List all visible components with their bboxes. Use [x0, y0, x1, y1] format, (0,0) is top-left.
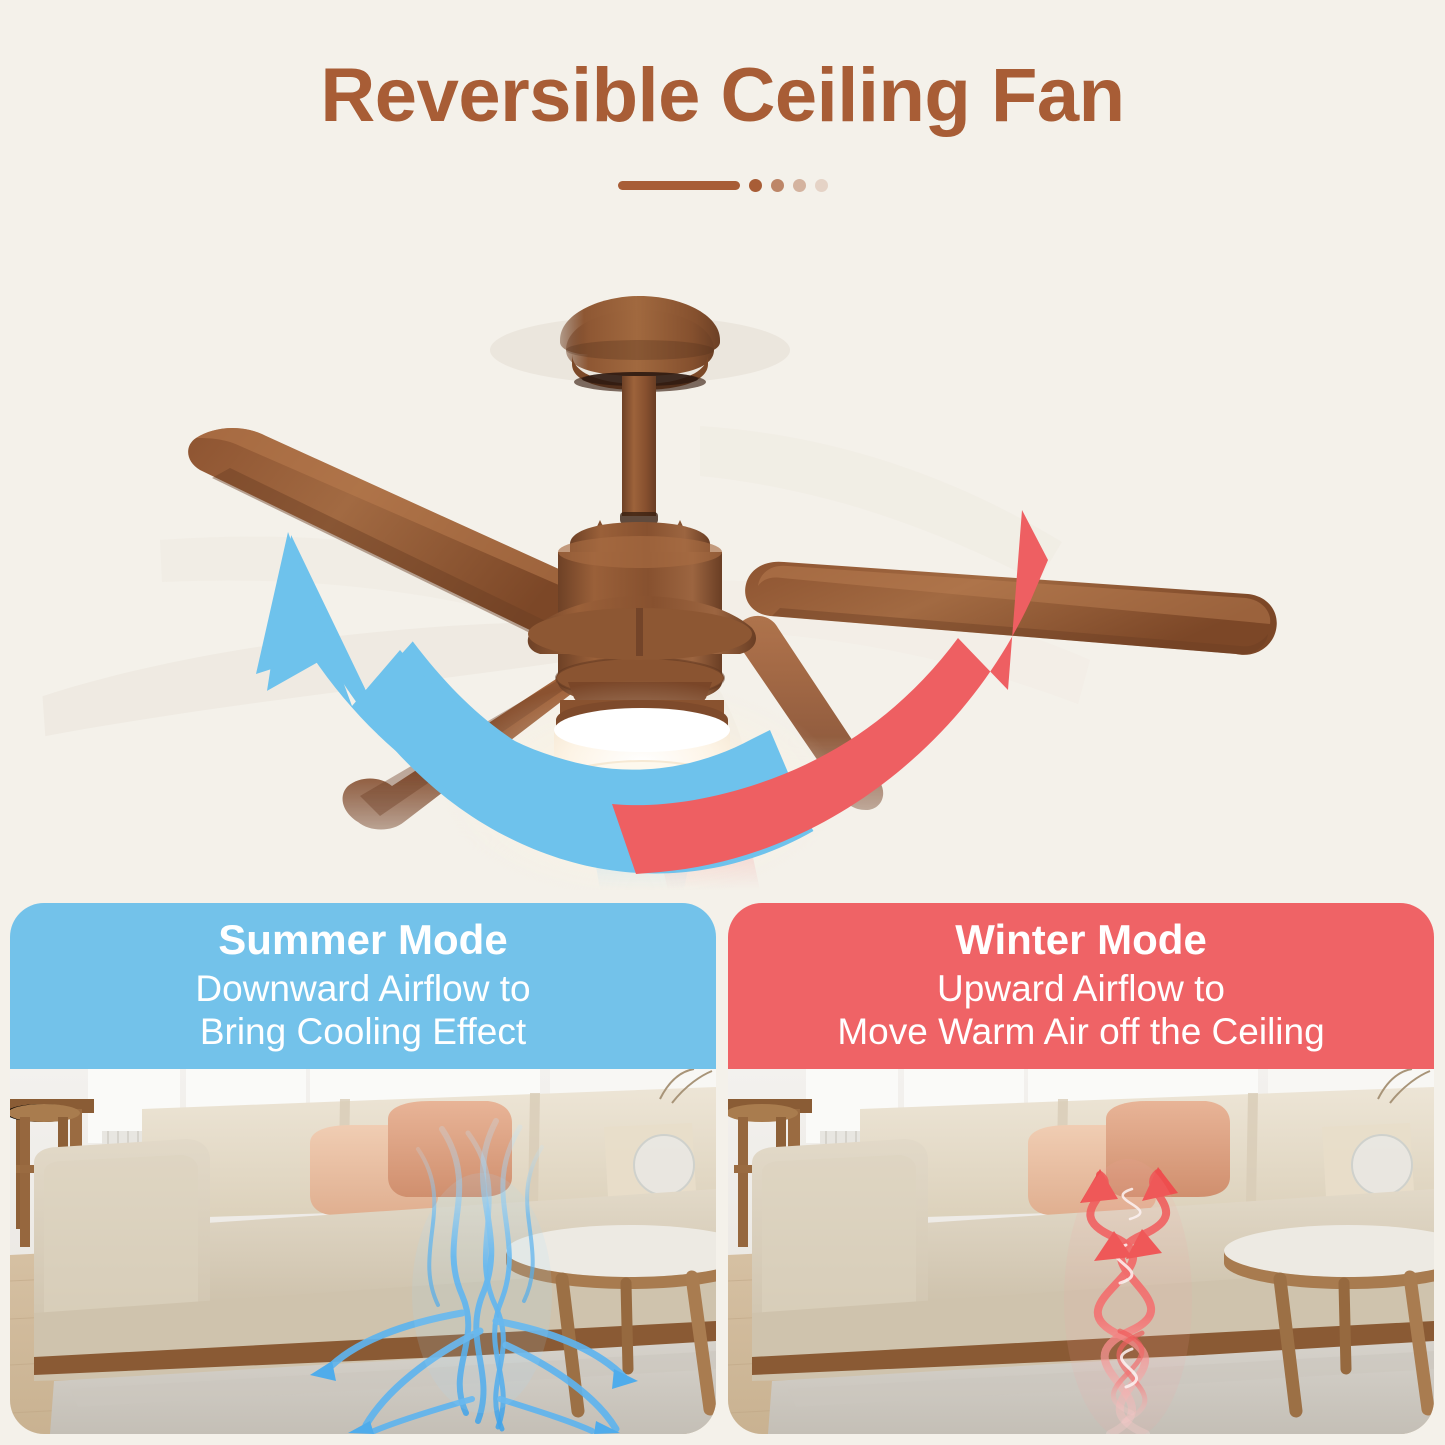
summer-mode-header: Summer Mode Downward Airflow to Bring Co… — [10, 903, 716, 1069]
summer-mode-subtitle-line2: Bring Cooling Effect — [200, 1010, 526, 1053]
summer-mode-subtitle-line1: Downward Airflow to — [195, 967, 530, 1010]
summer-mode-panel[interactable]: Summer Mode Downward Airflow to Bring Co… — [10, 903, 716, 1434]
decoration-dot-1 — [749, 179, 762, 192]
winter-mode-subtitle-line2: Move Warm Air off the Ceiling — [837, 1010, 1324, 1053]
decoration-dot-2 — [771, 179, 784, 192]
page-title: Reversible Ceiling Fan — [0, 58, 1445, 134]
winter-mode-photo — [728, 1069, 1434, 1434]
ceiling-fan-illustration — [0, 230, 1445, 890]
winter-mode-title: Winter Mode — [955, 918, 1207, 963]
winter-living-room-illustration — [728, 1069, 1434, 1434]
infographic-page: Reversible Ceiling Fan — [0, 0, 1445, 1445]
decoration-dot-4 — [815, 179, 828, 192]
winter-mode-panel[interactable]: Winter Mode Upward Airflow to Move Warm … — [728, 903, 1434, 1434]
fan-blade-upper-left — [188, 428, 608, 639]
winter-mode-header: Winter Mode Upward Airflow to Move Warm … — [728, 903, 1434, 1069]
hero-ceiling-fan-image — [0, 230, 1445, 890]
summer-mode-title: Summer Mode — [218, 918, 507, 963]
decoration-bar — [618, 181, 740, 190]
summer-mode-photo — [10, 1069, 716, 1434]
decoration-dot-3 — [793, 179, 806, 192]
fan-downrod — [620, 376, 658, 524]
title-decoration — [0, 176, 1445, 194]
summer-living-room-illustration — [10, 1069, 716, 1434]
header: Reversible Ceiling Fan — [0, 0, 1445, 230]
winter-mode-subtitle-line1: Upward Airflow to — [937, 967, 1225, 1010]
